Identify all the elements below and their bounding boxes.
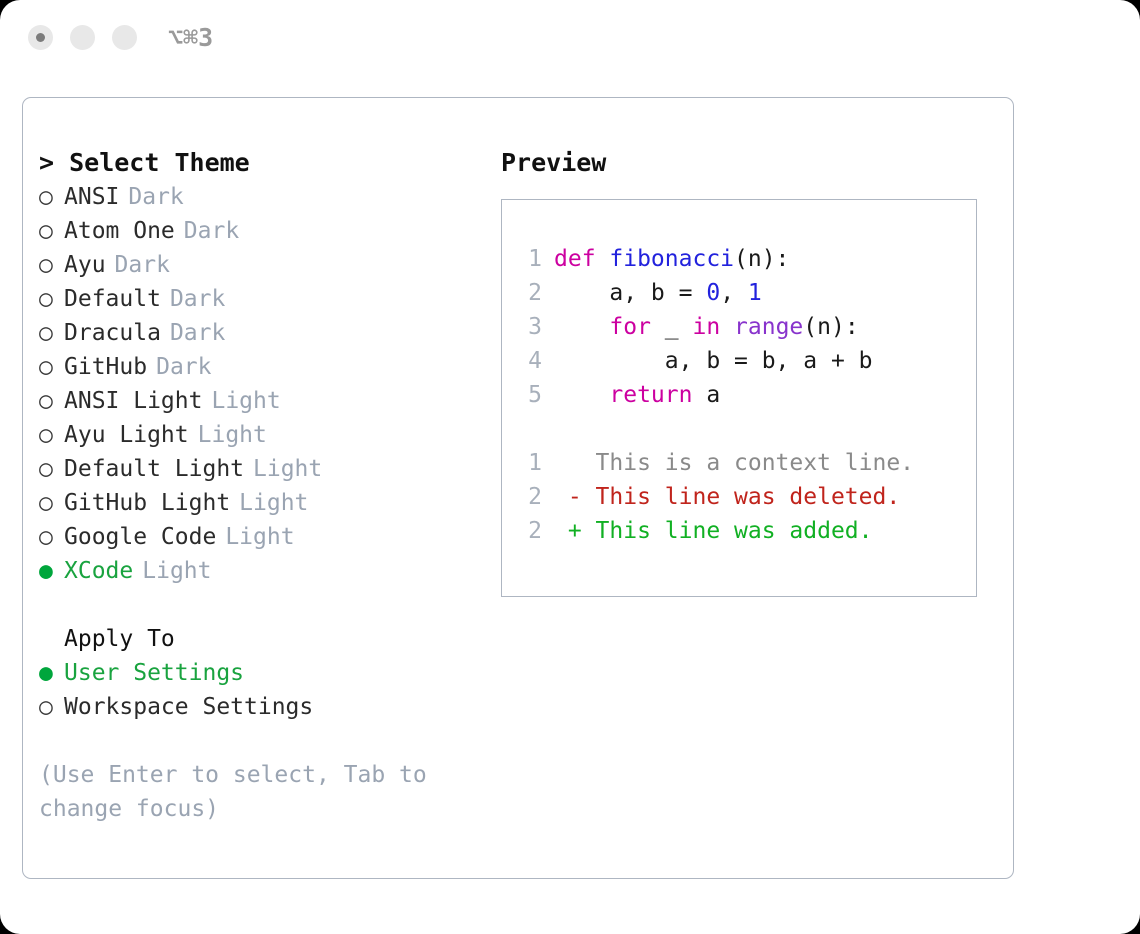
- code-sample: 1def fibonacci(n):2 a, b = 0, 13 for _ i…: [516, 242, 972, 412]
- code-token-kw: in: [692, 314, 720, 340]
- list-item[interactable]: ○Ayu LightLight: [39, 418, 479, 452]
- theme-list[interactable]: ○ANSIDark○Atom OneDark○AyuDark○DefaultDa…: [39, 180, 479, 588]
- code-line-text: for _ in range(n):: [554, 310, 859, 344]
- code-line: 4 a, b = b, a + b: [516, 344, 972, 378]
- list-item[interactable]: ○AyuDark: [39, 248, 479, 282]
- apply-to-list[interactable]: ●User Settings○Workspace Settings: [39, 656, 479, 724]
- radio-unselected-icon[interactable]: ○: [39, 316, 64, 350]
- radio-unselected-icon[interactable]: ○: [39, 350, 64, 384]
- code-token-kw: def: [554, 246, 609, 272]
- radio-selected-icon[interactable]: ●: [39, 554, 64, 588]
- traffic-light-maximize[interactable]: [112, 25, 137, 50]
- code-line-text: + This line was added.: [554, 514, 873, 548]
- code-token-kw: for: [609, 314, 651, 340]
- diff-sample: 1 This is a context line.2 - This line w…: [516, 446, 972, 548]
- list-item[interactable]: ●XCodeLight: [39, 554, 479, 588]
- line-number: 3: [516, 310, 542, 344]
- code-token-plain: (n):: [803, 314, 858, 340]
- code-token-plain: [720, 314, 734, 340]
- code-line: 1def fibonacci(n):: [516, 242, 972, 276]
- list-item-label: Default: [64, 282, 161, 316]
- keyboard-hint: (Use Enter to select, Tab to change focu…: [39, 758, 439, 826]
- list-item-label: Dracula: [64, 316, 161, 350]
- radio-unselected-icon[interactable]: ○: [39, 486, 64, 520]
- select-theme-header: > Select Theme: [39, 146, 479, 180]
- code-line: 2 + This line was added.: [516, 514, 972, 548]
- list-item[interactable]: ○Default LightLight: [39, 452, 479, 486]
- list-item[interactable]: ○GitHub LightLight: [39, 486, 479, 520]
- list-item-category: Dark: [170, 316, 225, 350]
- window-controls: [28, 25, 137, 50]
- list-item-category: Light: [225, 520, 294, 554]
- apply-to-header: Apply To: [39, 622, 479, 656]
- code-token-add: + This line was added.: [554, 518, 873, 544]
- main-panel: > Select Theme ○ANSIDark○Atom OneDark○Ay…: [22, 97, 1014, 879]
- list-item[interactable]: ●User Settings: [39, 656, 479, 690]
- code-line: 3 for _ in range(n):: [516, 310, 972, 344]
- code-token-plain: (n):: [734, 246, 789, 272]
- theme-picker-column: > Select Theme ○ANSIDark○Atom OneDark○Ay…: [39, 146, 479, 826]
- list-item-category: Dark: [156, 350, 211, 384]
- code-token-plain: a: [692, 382, 720, 408]
- code-token-num: 0: [706, 280, 720, 306]
- code-line: 2 a, b = 0, 1: [516, 276, 972, 310]
- list-item-label: XCode: [64, 554, 133, 588]
- line-number: 2: [516, 480, 542, 514]
- list-item-label: GitHub Light: [64, 486, 230, 520]
- list-item-label: Google Code: [64, 520, 216, 554]
- code-token-del: - This line was deleted.: [554, 484, 900, 510]
- radio-unselected-icon[interactable]: ○: [39, 214, 64, 248]
- code-token-plain: a, b =: [554, 280, 706, 306]
- title-bar: ⌥⌘3: [0, 0, 1140, 78]
- list-item-category: Dark: [115, 248, 170, 282]
- list-item[interactable]: ○Atom OneDark: [39, 214, 479, 248]
- spacer: [516, 412, 972, 446]
- list-item-label: Atom One: [64, 214, 175, 248]
- code-token-plain: _: [651, 314, 693, 340]
- radio-unselected-icon[interactable]: ○: [39, 384, 64, 418]
- code-token-plain: a, b = b, a + b: [554, 348, 873, 374]
- list-item-category: Light: [253, 452, 322, 486]
- list-item-label: GitHub: [64, 350, 147, 384]
- code-preview: 1def fibonacci(n):2 a, b = 0, 13 for _ i…: [516, 242, 972, 548]
- line-number: 4: [516, 344, 542, 378]
- code-token-num: 1: [748, 280, 762, 306]
- line-number: 2: [516, 514, 542, 548]
- list-item-category: Light: [239, 486, 308, 520]
- traffic-light-dot-icon: [36, 33, 45, 42]
- list-item[interactable]: ○DraculaDark: [39, 316, 479, 350]
- line-number: 2: [516, 276, 542, 310]
- list-item[interactable]: ○DefaultDark: [39, 282, 479, 316]
- code-line-text: a, b = b, a + b: [554, 344, 873, 378]
- code-line: 2 - This line was deleted.: [516, 480, 972, 514]
- list-item-category: Dark: [184, 214, 239, 248]
- window-title: ⌥⌘3: [168, 22, 213, 54]
- radio-unselected-icon[interactable]: ○: [39, 452, 64, 486]
- list-item-category: Light: [198, 418, 267, 452]
- traffic-light-close[interactable]: [28, 25, 53, 50]
- radio-unselected-icon[interactable]: ○: [39, 248, 64, 282]
- list-item[interactable]: ○Workspace Settings: [39, 690, 479, 724]
- code-line: 5 return a: [516, 378, 972, 412]
- code-token-ctx: This is a context line.: [554, 450, 914, 476]
- list-item-label: User Settings: [64, 656, 244, 690]
- code-token-builtin: range: [734, 314, 803, 340]
- radio-unselected-icon[interactable]: ○: [39, 690, 64, 724]
- line-number: 5: [516, 378, 542, 412]
- code-line: 1 This is a context line.: [516, 446, 972, 480]
- list-item-label: Ayu Light: [64, 418, 189, 452]
- code-token-plain: ,: [720, 280, 748, 306]
- traffic-light-minimize[interactable]: [70, 25, 95, 50]
- list-item-category: Light: [211, 384, 280, 418]
- preview-title: Preview: [501, 146, 1001, 180]
- list-item[interactable]: ○ANSIDark: [39, 180, 479, 214]
- code-token-fn: fibonacci: [609, 246, 734, 272]
- list-item[interactable]: ○ANSI LightLight: [39, 384, 479, 418]
- list-item-category: Dark: [128, 180, 183, 214]
- list-item-label: Workspace Settings: [64, 690, 313, 724]
- radio-selected-icon[interactable]: ●: [39, 656, 64, 690]
- code-line-text: return a: [554, 378, 720, 412]
- line-number: 1: [516, 242, 542, 276]
- list-item[interactable]: ○GitHubDark: [39, 350, 479, 384]
- line-number: 1: [516, 446, 542, 480]
- code-line-text: This is a context line.: [554, 446, 914, 480]
- list-item[interactable]: ○Google CodeLight: [39, 520, 479, 554]
- list-item-label: ANSI: [64, 180, 119, 214]
- radio-unselected-icon[interactable]: ○: [39, 520, 64, 554]
- list-item-label: ANSI Light: [64, 384, 202, 418]
- code-line-text: a, b = 0, 1: [554, 276, 762, 310]
- preview-box: 1def fibonacci(n):2 a, b = 0, 13 for _ i…: [501, 199, 977, 597]
- preview-column: Preview 1def fibonacci(n):2 a, b = 0, 13…: [501, 146, 1001, 597]
- code-token-plain: [554, 382, 609, 408]
- radio-unselected-icon[interactable]: ○: [39, 180, 64, 214]
- list-item-category: Light: [142, 554, 211, 588]
- list-item-label: Default Light: [64, 452, 244, 486]
- list-item-label: Ayu: [64, 248, 106, 282]
- code-token-kw: return: [609, 382, 692, 408]
- code-line-text: - This line was deleted.: [554, 480, 900, 514]
- code-token-plain: [554, 314, 609, 340]
- app-window: ⌥⌘3 > Select Theme ○ANSIDark○Atom OneDar…: [0, 0, 1140, 934]
- code-line-text: def fibonacci(n):: [554, 242, 789, 276]
- list-item-category: Dark: [170, 282, 225, 316]
- radio-unselected-icon[interactable]: ○: [39, 418, 64, 452]
- radio-unselected-icon[interactable]: ○: [39, 282, 64, 316]
